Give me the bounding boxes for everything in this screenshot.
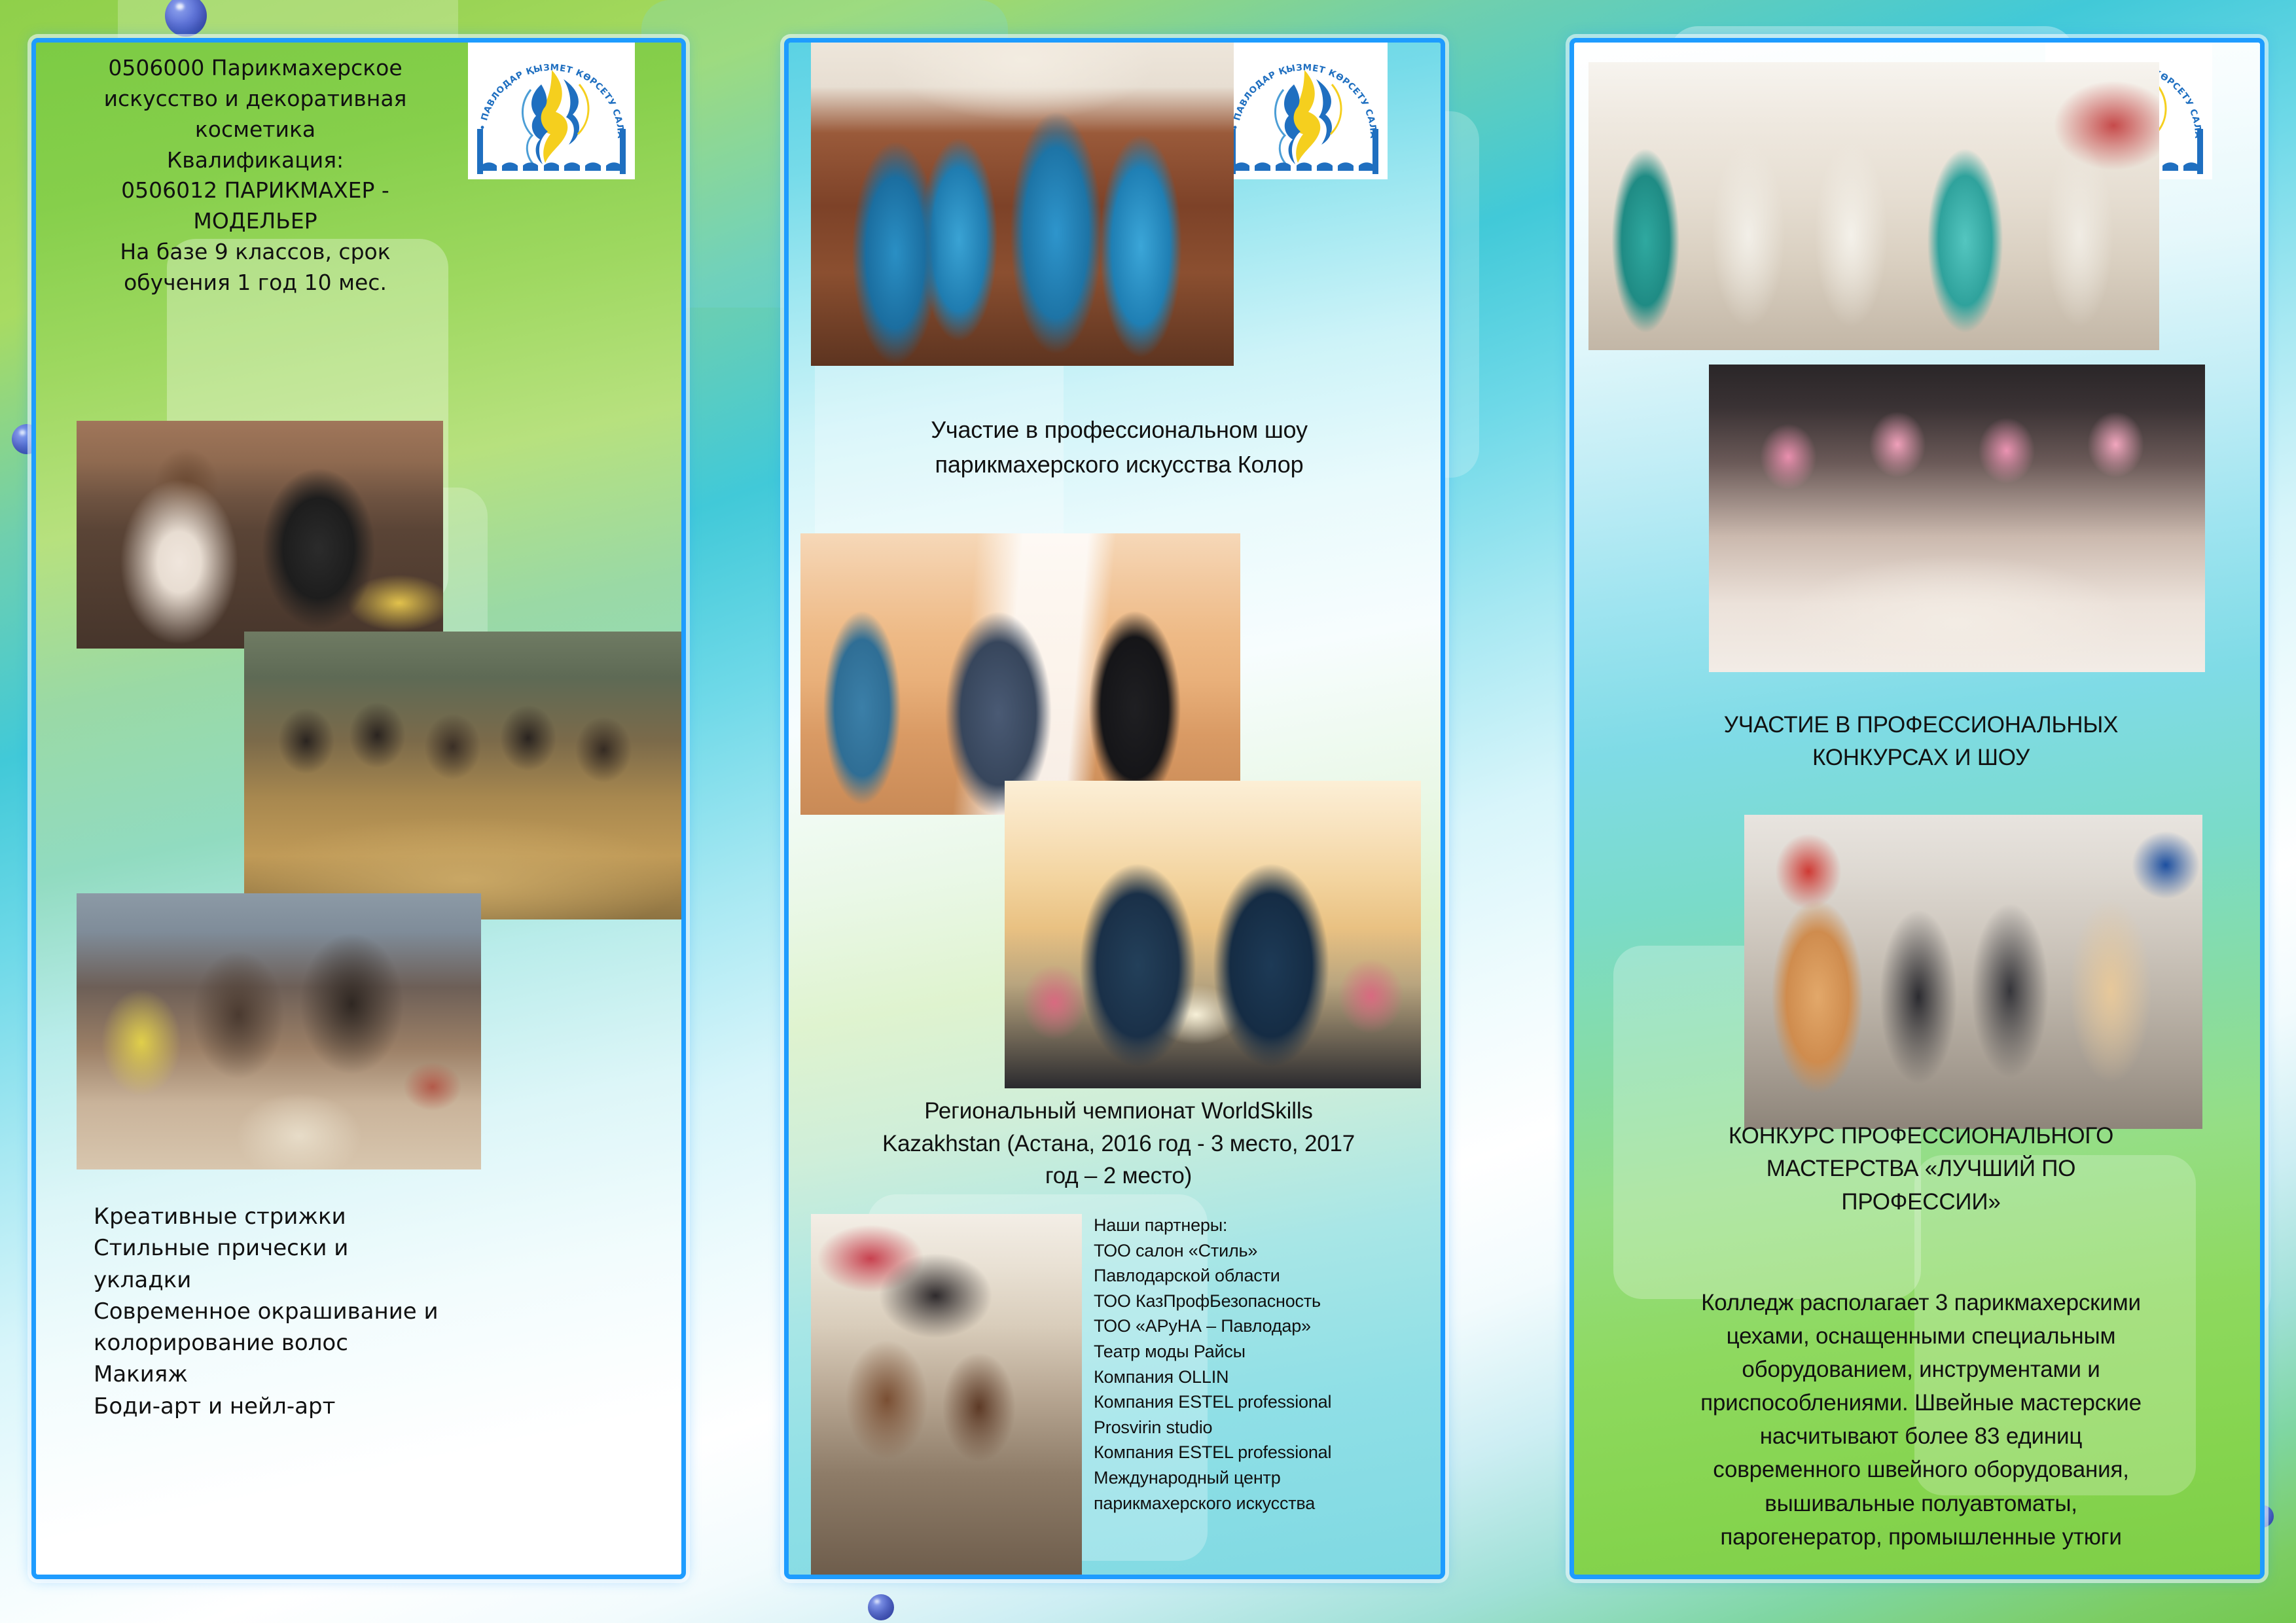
panel3-facilities: Колледж располагает 3 парикмахерскими це…	[1581, 1286, 2260, 1554]
heading-line-4: Квалификация:	[56, 145, 455, 176]
partner-item: Компания ESTEL professional	[1094, 1389, 1441, 1415]
photo-worldskills-medalists	[1005, 781, 1421, 1088]
heading-line-1: 0506000 Парикмахерское	[56, 53, 455, 84]
facilities-line-5: насчитывают более 83 единиц	[1581, 1419, 2260, 1453]
skill-item: Современное окрашивание и	[94, 1296, 630, 1327]
caption-line-3: ПРОФЕССИИ»	[1587, 1186, 2255, 1219]
caption-line-2: МАСТЕРСТВА «ЛУЧШИЙ ПО	[1587, 1152, 2255, 1185]
panel3-caption-contests: УЧАСТИЕ В ПРОФЕССИОНАЛЬНЫХ КОНКУРСАХ И Ш…	[1587, 709, 2255, 775]
caption-line-2: Kazakhstan (Астана, 2016 год - 3 место, …	[794, 1128, 1441, 1160]
partner-item: Международный центр	[1094, 1465, 1441, 1491]
brochure-panel-1: • ПАВЛОДАР ҚЫЗМЕТ КӨРСЕТУ САЛАСЫ КОЛЛЕДЖ…	[31, 38, 686, 1579]
partner-item: Театр моды Райсы	[1094, 1339, 1441, 1364]
facilities-line-3: оборудованием, инструментами и	[1581, 1353, 2260, 1386]
photo-indola-hair-competition	[1744, 815, 2202, 1129]
panel1-skills-list: Креативные стрижки Стильные прически и у…	[94, 1201, 630, 1422]
partner-item: парикмахерского искусства	[1094, 1491, 1441, 1516]
panel2-caption-worldskills: Региональный чемпионат WorldSkills Kazak…	[794, 1095, 1441, 1192]
photo-makeup-lesson	[77, 421, 443, 649]
decorative-bubble	[868, 1594, 894, 1620]
college-logo: • ПАВЛОДАР ҚЫЗМЕТ КӨРСЕТУ САЛАСЫ КОЛЛЕДЖ…	[1221, 43, 1388, 179]
skill-item: Стильные прически и	[94, 1232, 630, 1264]
heading-line-6: МОДЕЛЬЕР	[56, 206, 455, 237]
skill-item: укладки	[94, 1264, 630, 1296]
heading-line-2: искусство и декоративная	[56, 84, 455, 115]
brochure-panel-3: • ПАВЛОДАР ҚЫЗМЕТ КӨРСЕТУ САЛАСЫ КОЛЛЕДЖ…	[1570, 38, 2265, 1579]
skill-item: Боди-арт и нейл-арт	[94, 1391, 630, 1422]
photo-worldskills-award-ceremony	[800, 533, 1240, 815]
college-logo: • ПАВЛОДАР ҚЫЗМЕТ КӨРСЕТУ САЛАСЫ КОЛЛЕДЖ…	[468, 43, 635, 179]
heading-line-7: На базе 9 классов, срок	[56, 237, 455, 268]
caption-line-1: Региональный чемпионат WorldSkills	[794, 1095, 1441, 1128]
facilities-line-7: вышивальные полуавтоматы,	[1581, 1487, 2260, 1520]
photo-nail-art-workshop	[77, 893, 481, 1169]
skill-item: Креативные стрижки	[94, 1201, 630, 1232]
photo-models-floral-headpieces	[1709, 365, 2205, 672]
partners-title: Наши партнеры:	[1094, 1213, 1441, 1238]
photo-fashion-show-white-dresses	[1588, 62, 2159, 350]
heading-line-5: 0506012 ПАРИКМАХЕР -	[56, 175, 455, 206]
caption-line-1: КОНКУРС ПРОФЕССИОНАЛЬНОГО	[1587, 1120, 2255, 1152]
heading-line-8: обучения 1 год 10 мес.	[56, 268, 455, 298]
panel3-caption-best: КОНКУРС ПРОФЕССИОНАЛЬНОГО МАСТЕРСТВА «ЛУ…	[1587, 1120, 2255, 1219]
panel2-caption-show: Участие в профессиональном шоу парикмахе…	[808, 413, 1430, 482]
panel1-heading: 0506000 Парикмахерское искусство и декор…	[56, 53, 455, 298]
partner-item: Компания ESTEL professional	[1094, 1440, 1441, 1465]
caption-line-2: КОНКУРСАХ И ШОУ	[1587, 741, 2255, 774]
partner-item: ТОО салон «Стиль»	[1094, 1238, 1441, 1264]
skill-item: колорирование волос	[94, 1327, 630, 1359]
skill-item: Макияж	[94, 1359, 630, 1390]
partner-item: Павлодарской области	[1094, 1263, 1441, 1289]
photo-bodyart-avatar-show	[811, 43, 1234, 366]
brochure-panel-2: • ПАВЛОДАР ҚЫЗМЕТ КӨРСЕТУ САЛАСЫ КОЛЛЕДЖ…	[784, 38, 1445, 1579]
ornament-band	[481, 156, 621, 171]
facilities-line-6: современного швейного оборудования,	[1581, 1453, 2260, 1486]
caption-line-3: год – 2 место)	[794, 1160, 1441, 1192]
heading-line-3: косметика	[56, 115, 455, 145]
facilities-line-4: приспособлениями. Швейные мастерские	[1581, 1386, 2260, 1419]
caption-line-1: УЧАСТИЕ В ПРОФЕССИОНАЛЬНЫХ	[1587, 709, 2255, 741]
facilities-line-1: Колледж располагает 3 парикмахерскими	[1581, 1286, 2260, 1319]
caption-line-1: Участие в профессиональном шоу	[808, 413, 1430, 448]
partner-item: ТОО «АРуНА – Павлодар»	[1094, 1313, 1441, 1339]
partner-item: Компания OLLIN	[1094, 1364, 1441, 1390]
partner-item: Prosvirin studio	[1094, 1415, 1441, 1440]
facilities-line-2: цехами, оснащенными специальным	[1581, 1319, 2260, 1353]
photo-beauty-academy-competition	[811, 1214, 1082, 1575]
brochure-page: • ПАВЛОДАР ҚЫЗМЕТ КӨРСЕТУ САЛАСЫ КОЛЛЕДЖ…	[0, 0, 2296, 1623]
panel2-partners: Наши партнеры: ТОО салон «Стиль» Павлода…	[1094, 1213, 1441, 1516]
caption-line-2: парикмахерского искусства Колор	[808, 448, 1430, 482]
ornament-band	[1234, 156, 1374, 171]
facilities-line-8: парогенератор, промышленные утюги	[1581, 1520, 2260, 1554]
photo-mannequin-heads-classroom	[244, 632, 681, 919]
partner-item: ТОО КазПрофБезопасность	[1094, 1289, 1441, 1314]
